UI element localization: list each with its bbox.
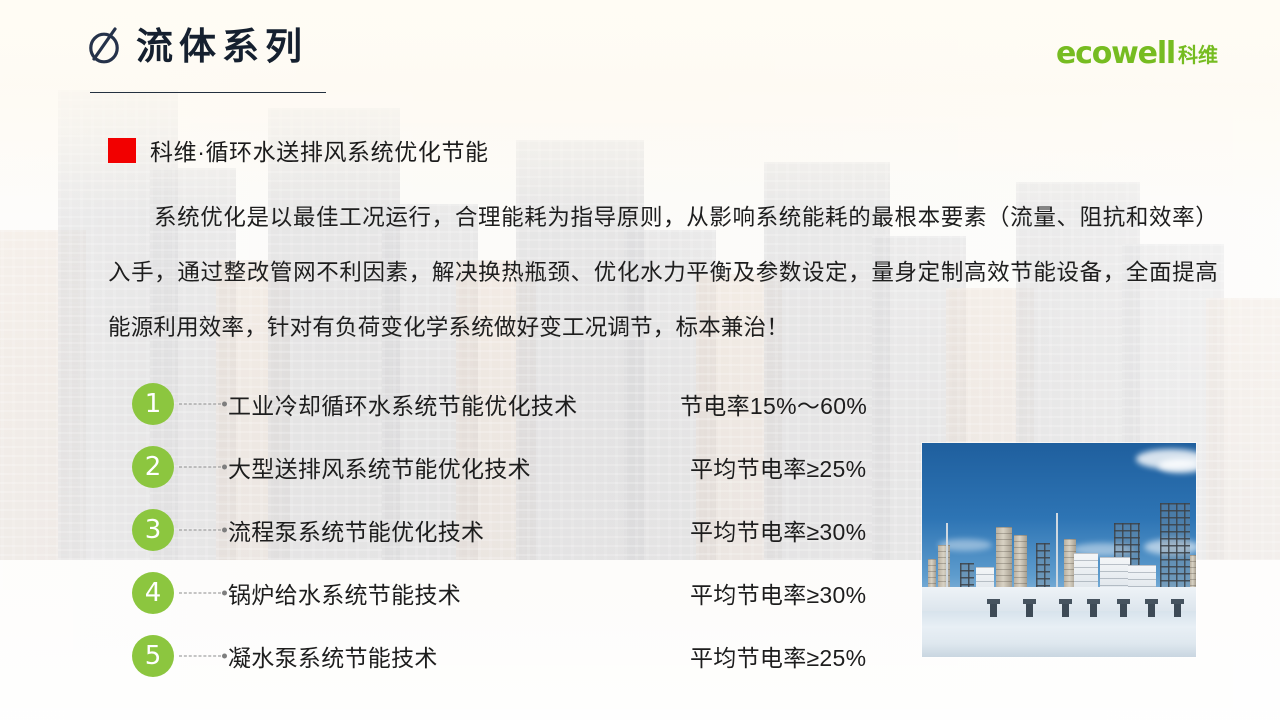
list-item-label: 锅炉给水系统节能技术: [228, 576, 461, 610]
photo-wellhead: [1090, 603, 1097, 617]
list-item-label: 凝水泵系统节能技术: [228, 639, 438, 673]
diameter-slashed-circle-icon: [88, 26, 122, 66]
slide-canvas: 流体系列 ecowell 科维 科维·循环水送排风系统优化节能 系统优化是以最佳…: [0, 0, 1280, 720]
page-header: 流体系列: [88, 26, 308, 66]
list-item-value: 平均节电率≥30%: [690, 576, 866, 610]
photo-cloud: [1158, 459, 1196, 473]
list-item[interactable]: 1 工业冷却循环水系统节能优化技术 节电率15%～60%: [0, 372, 1280, 435]
title-underline: [90, 92, 326, 93]
list-item-label: 大型送排风系统节能优化技术: [228, 450, 531, 484]
dashed-connector-icon: [179, 529, 221, 530]
list-item-label: 工业冷却循环水系统节能优化技术: [228, 387, 578, 421]
body-paragraph: 系统优化是以最佳工况运行，合理能耗为指导原则，从影响系统能耗的最根本要素（流量、…: [108, 190, 1218, 355]
list-item-label: 流程泵系统节能优化技术: [228, 513, 484, 547]
list-number-badge: 5: [132, 635, 174, 677]
list-number-badge: 1: [132, 383, 174, 425]
dashed-connector-icon: [179, 466, 221, 467]
photo-column: [996, 527, 1012, 595]
list-item-value: 节电率15%～60%: [680, 387, 867, 421]
photo-snow-ground: [922, 611, 1196, 657]
brand-logo: ecowell 科维: [1056, 40, 1218, 67]
list-item-value: 平均节电率≥25%: [690, 639, 866, 673]
photo-wellhead: [1062, 603, 1069, 617]
subheading-label: 科维·循环水送排风系统优化节能: [150, 133, 489, 167]
page-title: 流体系列: [136, 28, 308, 65]
dashed-connector-icon: [179, 403, 221, 404]
section-subheading: 科维·循环水送排风系统优化节能: [108, 133, 489, 167]
photo-column: [1014, 535, 1027, 595]
photo-wellhead: [990, 603, 997, 617]
list-number-badge: 2: [132, 446, 174, 488]
list-number-badge: 3: [132, 509, 174, 551]
logo-english-text: ecowell: [1056, 40, 1175, 67]
red-square-bullet-icon: [108, 138, 136, 163]
photo-wellhead: [1120, 603, 1127, 617]
photo-steel-tower: [1160, 503, 1190, 595]
photo-wellhead: [1026, 603, 1033, 617]
logo-chinese-text: 科维: [1178, 45, 1218, 67]
list-number-badge: 4: [132, 572, 174, 614]
industrial-plant-photo: [922, 443, 1196, 657]
dashed-connector-icon: [179, 655, 221, 656]
photo-wellhead: [1174, 603, 1181, 617]
list-item-value: 平均节电率≥25%: [690, 450, 866, 484]
list-item-value: 平均节电率≥30%: [690, 513, 866, 547]
photo-wellhead: [1148, 603, 1155, 617]
dashed-connector-icon: [179, 592, 221, 593]
